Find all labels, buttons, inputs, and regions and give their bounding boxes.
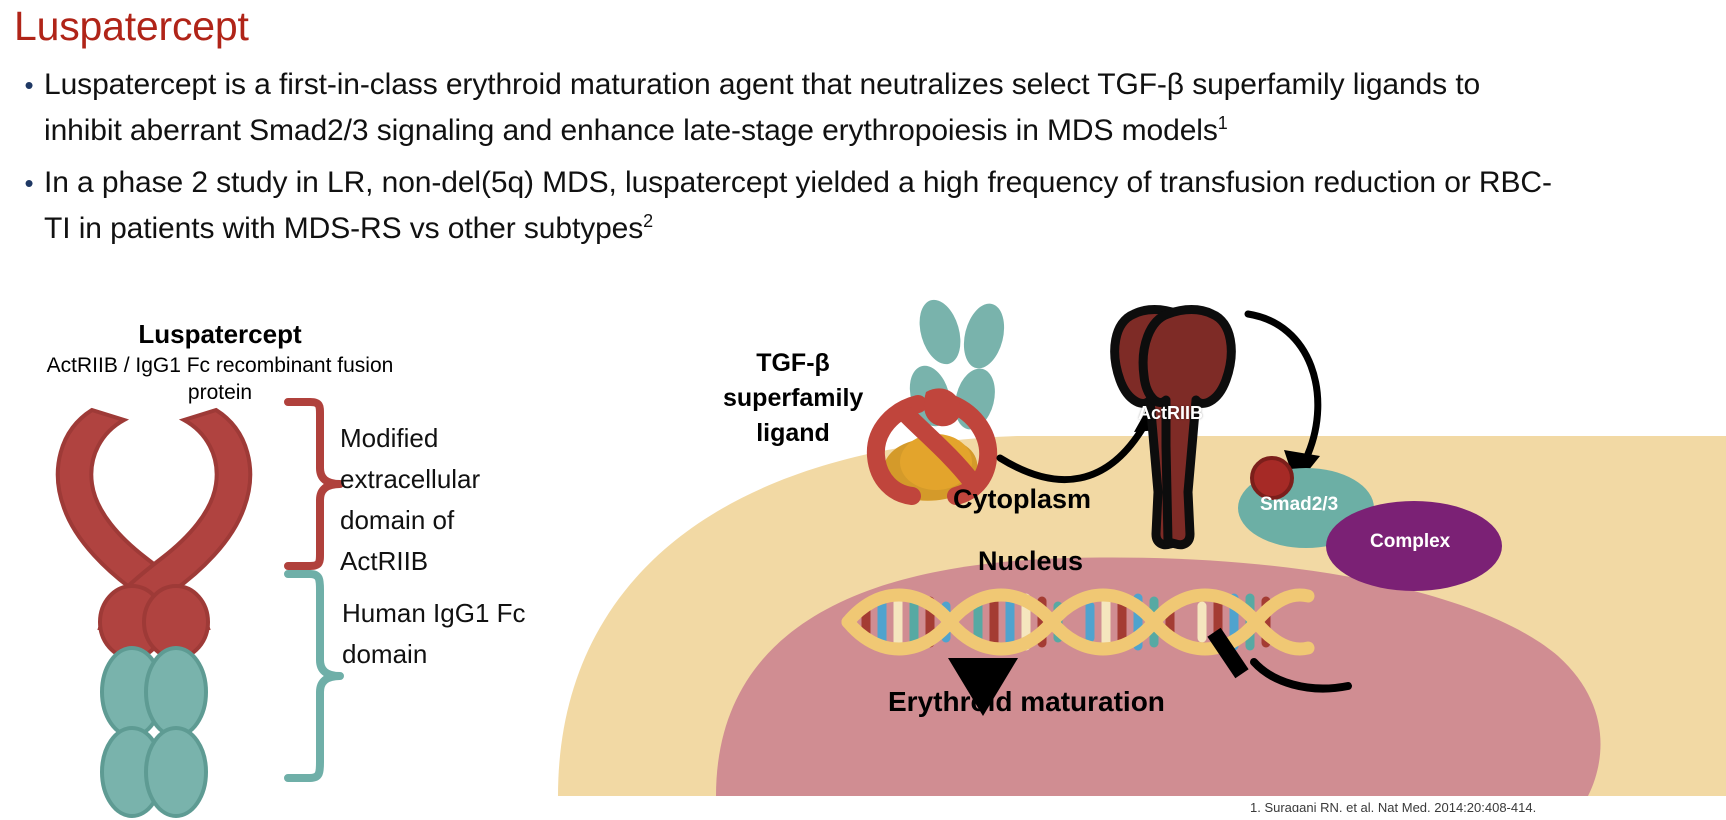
actriib-label: ActRIIB: [1138, 403, 1203, 424]
bullet-text-1: Luspatercept is a first-in-class erythro…: [44, 68, 1480, 147]
bullet-body: In a phase 2 study in LR, non-del(5q) MD…: [44, 160, 1564, 252]
ligand-label: TGF-β superfamily ligand: [723, 346, 863, 451]
erythroid-maturation-label: Erythroid maturation: [888, 686, 1165, 718]
luspatercept-structure-figure: Luspatercept ActRIIB / IgG1 Fc recombina…: [30, 318, 550, 812]
list-item: • Luspatercept is a first-in-class eryth…: [14, 62, 1564, 154]
signaling-pathway-figure: TGF-β superfamily ligand Cytoplasm Nucle…: [548, 296, 1726, 812]
left-figure-title: Luspatercept: [30, 318, 410, 350]
ligand-complex-icon: [876, 296, 1011, 501]
smad-label: Smad2/3: [1260, 494, 1338, 516]
page-title: Luspatercept: [14, 2, 249, 50]
brace-label-fc: Human IgG1 Fc domain: [342, 593, 542, 675]
complex-label: Complex: [1370, 531, 1450, 553]
citation-text: 1. Suragani RN, et al. Nat Med. 2014;20:…: [1250, 800, 1720, 812]
bullet-list: • Luspatercept is a first-in-class eryth…: [14, 62, 1564, 258]
left-figure-subtitle: ActRIIB / IgG1 Fc recombinant fusion pro…: [30, 352, 410, 406]
cytoplasm-label: Cytoplasm: [953, 484, 1091, 515]
bullet-text-2: In a phase 2 study in LR, non-del(5q) MD…: [44, 166, 1552, 245]
brace-label-actriib: Modified extracellular domain of ActRIIB: [340, 418, 540, 582]
bullet-marker-icon: •: [14, 62, 44, 108]
bullet-marker-icon: •: [14, 160, 44, 206]
bullet-superscript-1: 1: [1218, 113, 1228, 133]
bullet-superscript-2: 2: [643, 211, 653, 231]
bullet-body: Luspatercept is a first-in-class erythro…: [44, 62, 1564, 154]
nucleus-label: Nucleus: [978, 546, 1083, 577]
list-item: • In a phase 2 study in LR, non-del(5q) …: [14, 160, 1564, 252]
phospho-circle-icon: [1252, 458, 1292, 498]
teal-brace-icon: [280, 570, 350, 782]
